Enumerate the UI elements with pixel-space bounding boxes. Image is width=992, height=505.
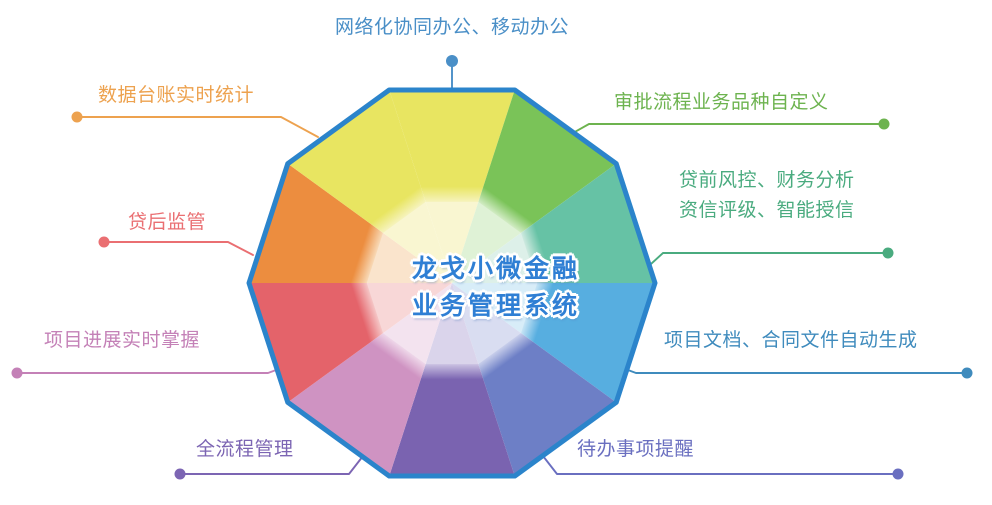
- label-risk-control[interactable]: 贷前风控、财务分析: [679, 169, 855, 191]
- connector-dot: [72, 112, 83, 123]
- label-network-office[interactable]: 网络化协同办公、移动办公: [335, 16, 569, 38]
- connector-dot: [962, 368, 973, 379]
- connector-dot: [893, 469, 904, 480]
- connector-dot: [879, 119, 890, 130]
- connector-dot: [446, 55, 458, 67]
- connector-dot: [99, 237, 110, 248]
- label-project-progress[interactable]: 项目进展实时掌握: [44, 329, 200, 351]
- label-post-loan[interactable]: 贷后监管: [128, 211, 206, 233]
- diagram-canvas: 网络化协同办公、移动办公审批流程业务品种自定义贷前风控、财务分析资信评级、智能授…: [0, 0, 992, 505]
- label-data-ledger[interactable]: 数据台账实时统计: [98, 84, 254, 106]
- connector-dot: [175, 469, 186, 480]
- label-doc-generation[interactable]: 项目文档、合同文件自动生成: [664, 329, 918, 351]
- connector-line: [77, 117, 318, 137]
- wheel-hub: [367, 202, 538, 364]
- connector-line: [548, 124, 884, 147]
- connector-line: [640, 253, 888, 274]
- label-todo-reminder[interactable]: 待办事项提醒: [577, 438, 694, 460]
- label-risk-control[interactable]: 资信评级、智能授信: [679, 199, 855, 221]
- label-full-process[interactable]: 全流程管理: [196, 438, 294, 460]
- connector-line: [17, 360, 303, 373]
- connector-line: [104, 242, 253, 255]
- radial-wheel-diagram: 网络化协同办公、移动办公审批流程业务品种自定义贷前风控、财务分析资信评级、智能授…: [0, 0, 992, 505]
- connector-dot: [12, 368, 23, 379]
- label-approval-process[interactable]: 审批流程业务品种自定义: [614, 91, 829, 113]
- connector-line: [601, 360, 967, 373]
- connector-dot: [883, 248, 894, 259]
